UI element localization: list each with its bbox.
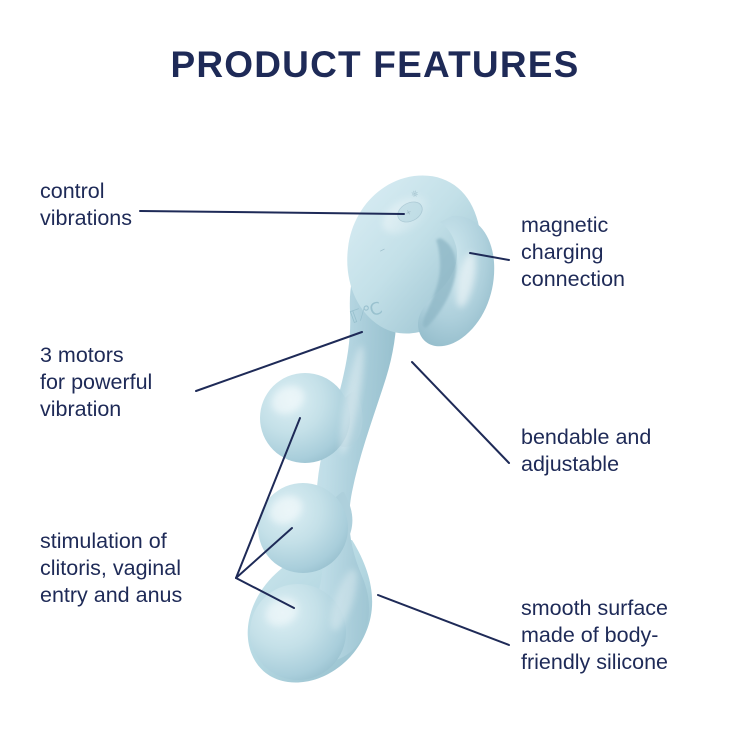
shaft-highlight	[336, 345, 369, 456]
product-head	[347, 175, 480, 333]
leader-smooth-surface	[378, 595, 509, 645]
minus-icon[interactable]: −	[378, 244, 388, 257]
sphere-neck-top	[328, 392, 362, 447]
sphere-top-highlight	[267, 381, 309, 420]
callout-line: smooth surface	[521, 595, 668, 622]
charging-loop	[418, 216, 494, 346]
callout-smooth-surface: smooth surface made of body- friendly si…	[521, 595, 668, 676]
callout-line: connection	[521, 266, 625, 293]
leader-stimulation-mid	[236, 528, 292, 578]
leader-three-motors	[196, 332, 362, 391]
leader-control-vibrations	[140, 211, 404, 214]
callout-bendable-adjustable: bendable and adjustable	[521, 424, 651, 478]
leader-stimulation-bottom	[236, 578, 294, 608]
callout-line: stimulation of	[40, 528, 182, 555]
callout-line: magnetic	[521, 212, 625, 239]
tip-highlight	[326, 567, 363, 633]
loop-highlight	[452, 251, 479, 309]
callout-line: friendly silicone	[521, 649, 668, 676]
callout-three-motors: 3 motors for powerful vibration	[40, 342, 152, 423]
callout-line: adjustable	[521, 451, 651, 478]
callout-line: charging	[521, 239, 625, 266]
sphere-mid-highlight	[265, 491, 307, 530]
head-highlight	[376, 189, 436, 242]
callout-line: vibration	[40, 396, 152, 423]
page-title: PRODUCT FEATURES	[0, 44, 750, 86]
leader-bendable-adjustable	[412, 362, 509, 463]
power-icon[interactable]: ⎈	[409, 187, 420, 199]
sphere-top	[260, 373, 350, 463]
brand-logo-icon: ℾ⁄℃	[347, 298, 385, 327]
leader-magnetic-charging	[470, 253, 509, 260]
product-tip	[248, 540, 372, 683]
sphere-bottom	[250, 584, 346, 680]
control-markings: + ⎈ −	[378, 187, 426, 257]
callout-magnetic-charging: magnetic charging connection	[521, 212, 625, 293]
charging-loop-inner-shadow	[423, 238, 457, 328]
sphere-group	[250, 373, 363, 680]
sphere-neck-mid	[318, 492, 352, 547]
plus-icon: +	[404, 207, 413, 218]
callout-line: for powerful	[40, 369, 152, 396]
callout-stimulation: stimulation of clitoris, vaginal entry a…	[40, 528, 182, 609]
sphere-mid	[258, 483, 348, 573]
callout-line: clitoris, vaginal	[40, 555, 182, 582]
leader-stimulation-top	[236, 418, 300, 578]
product-body: + ⎈ − ℾ⁄℃	[248, 175, 495, 682]
plus-button[interactable]	[394, 198, 425, 226]
callout-line: entry and anus	[40, 582, 182, 609]
callout-line: 3 motors	[40, 342, 152, 369]
product-shaft	[302, 258, 396, 662]
callout-line: control	[40, 178, 132, 205]
callout-line: bendable and	[521, 424, 651, 451]
callout-control-vibrations: control vibrations	[40, 178, 132, 232]
sphere-bottom-highlight	[261, 593, 303, 632]
callout-line: made of body-	[521, 622, 668, 649]
callout-line: vibrations	[40, 205, 132, 232]
product-features-infographic: PRODUCT FEATURES	[0, 0, 750, 750]
